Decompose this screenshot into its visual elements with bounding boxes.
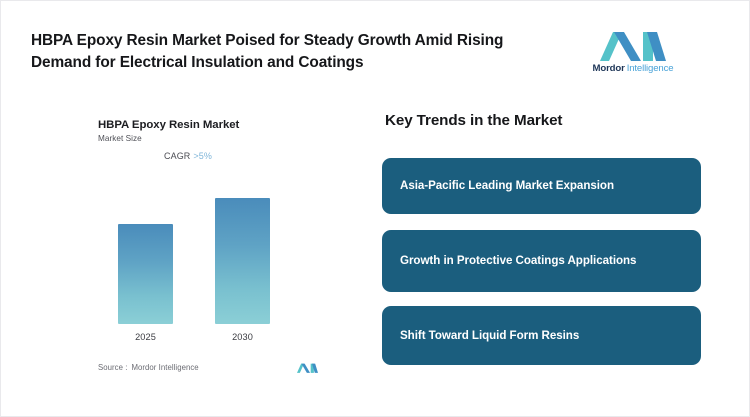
logo-word-secondary: Intelligence: [627, 63, 674, 74]
trend-card-3[interactable]: Shift Toward Liquid Form Resins: [382, 306, 701, 365]
trend-card-2-label: Growth in Protective Coatings Applicatio…: [400, 253, 636, 269]
bar-column-2030: 2030: [215, 198, 270, 342]
source-label: Source :: [98, 363, 127, 372]
cagr-annotation: CAGR>5%: [164, 151, 313, 161]
bar-2030: [215, 198, 270, 324]
chart-title: HBPA Epoxy Resin Market: [98, 119, 313, 131]
chart-header: HBPA Epoxy Resin Market Market Size CAGR…: [98, 119, 313, 161]
mordor-intelligence-mini-mark-icon: [297, 362, 318, 373]
source-name: Mordor Intelligence: [131, 363, 198, 372]
logo-wordmark: MordorIntelligence: [587, 64, 679, 74]
bar-label-2025: 2025: [118, 332, 173, 342]
bar-2025: [118, 224, 173, 324]
trend-card-3-label: Shift Toward Liquid Form Resins: [400, 328, 579, 344]
cagr-label: CAGR: [164, 151, 190, 161]
page-title: HBPA Epoxy Resin Market Poised for Stead…: [31, 30, 561, 74]
chart-subtitle: Market Size: [98, 134, 313, 143]
bar-column-2025: 2025: [118, 224, 173, 342]
chart-source: Source : Mordor Intelligence: [98, 362, 318, 373]
bar-chart-plot-area: 2025 2030: [98, 187, 313, 342]
mordor-intelligence-mark-icon: [600, 27, 666, 61]
bar-label-2030: 2030: [215, 332, 270, 342]
trend-card-1[interactable]: Asia-Pacific Leading Market Expansion: [382, 158, 701, 214]
trend-card-1-label: Asia-Pacific Leading Market Expansion: [400, 178, 614, 194]
logo-word-primary: Mordor: [593, 63, 625, 74]
infographic-page: HBPA Epoxy Resin Market Poised for Stead…: [0, 0, 750, 417]
trends-heading: Key Trends in the Market: [385, 112, 562, 129]
cagr-value: >5%: [193, 151, 212, 161]
trend-card-2[interactable]: Growth in Protective Coatings Applicatio…: [382, 230, 701, 292]
brand-logo: MordorIntelligence: [587, 27, 679, 74]
